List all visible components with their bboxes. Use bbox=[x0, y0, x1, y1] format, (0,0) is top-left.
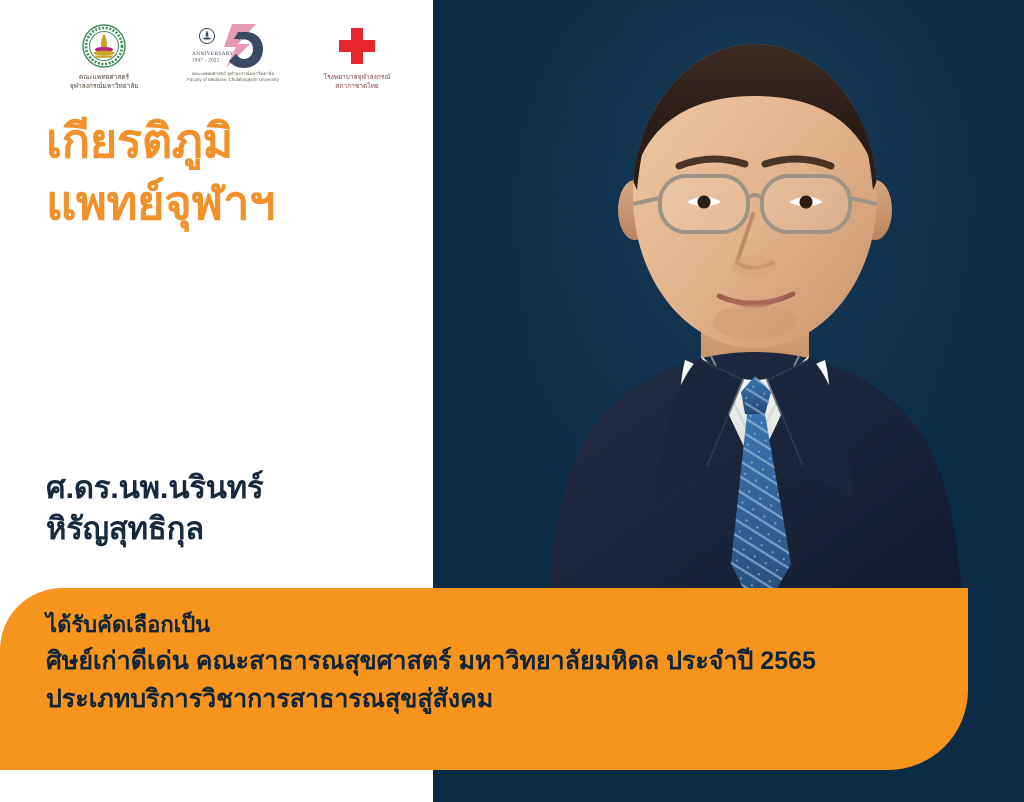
headline-line-1: เกียรติภูมิ bbox=[46, 110, 426, 172]
anniversary-75-icon: YEARS ANNIVERSARY 1947 - 2022 bbox=[178, 22, 288, 70]
award-banner-text: ได้รับคัดเลือกเป็น ศิษย์เก่าดีเด่น คณะสา… bbox=[46, 608, 946, 718]
logo-caption-red-cross: โรงพยาบาลจุฬาลงกรณ์ สภากาชาดไทย bbox=[302, 73, 412, 91]
logo-anniversary-75: YEARS ANNIVERSARY 1947 - 2022 คณะแพทยศาส… bbox=[178, 22, 288, 83]
logo-caption-chula-medicine: คณะแพทยศาสตร์ จุฬาลงกรณ์มหาวิทยาลัย bbox=[44, 73, 164, 91]
honoree-name-line-1: ศ.ดร.นพ.นรินทร์ bbox=[46, 468, 426, 509]
headline-line-2: แพทย์จุฬาฯ bbox=[46, 172, 426, 234]
svg-text:1947 - 2022: 1947 - 2022 bbox=[192, 59, 220, 64]
chula-emblem-icon bbox=[44, 22, 164, 70]
red-cross-icon bbox=[302, 22, 412, 70]
portrait-photo bbox=[455, 0, 1015, 660]
award-line-1: ได้รับคัดเลือกเป็น bbox=[46, 608, 946, 642]
logo-row: คณะแพทยศาสตร์ จุฬาลงกรณ์มหาวิทยาลัย YEAR… bbox=[44, 22, 414, 100]
award-line-2: ศิษย์เก่าดีเด่น คณะสาธารณสุขศาสตร์ มหาวิ… bbox=[46, 642, 946, 680]
honoree-name: ศ.ดร.นพ.นรินทร์ หิรัญสุทธิกุล bbox=[46, 468, 426, 550]
logo-thai-red-cross: โรงพยาบาลจุฬาลงกรณ์ สภากาชาดไทย bbox=[302, 22, 412, 91]
honoree-name-line-2: หิรัญสุทธิกุล bbox=[46, 509, 426, 550]
logo-caption-anniversary: คณะแพทยศาสตร์ จุฬาลงกรณ์มหาวิทยาลัย Facu… bbox=[178, 71, 288, 83]
award-banner: ได้รับคัดเลือกเป็น ศิษย์เก่าดีเด่น คณะสา… bbox=[0, 588, 968, 770]
svg-text:YEARS: YEARS bbox=[237, 36, 259, 42]
logo-chula-medicine: คณะแพทยศาสตร์ จุฬาลงกรณ์มหาวิทยาลัย bbox=[44, 22, 164, 91]
honor-announcement-card: คณะแพทยศาสตร์ จุฬาลงกรณ์มหาวิทยาลัย YEAR… bbox=[0, 0, 1024, 802]
award-line-3: ประเภทบริการวิชาการสาธารณสุขสู่สังคม bbox=[46, 680, 946, 718]
headline: เกียรติภูมิ แพทย์จุฬาฯ bbox=[46, 110, 426, 233]
svg-text:ANNIVERSARY: ANNIVERSARY bbox=[192, 51, 234, 57]
